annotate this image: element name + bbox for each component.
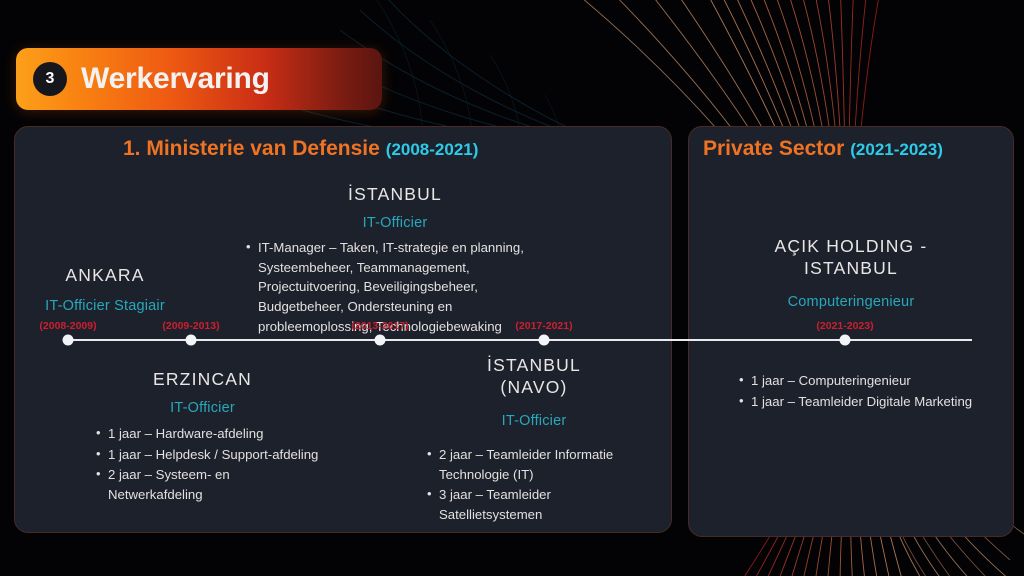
- timeline-dot[interactable]: [840, 335, 851, 346]
- timeline-label: (2008-2009): [39, 320, 96, 332]
- slide-root: 3 Werkervaring 1. Ministerie van Defensi…: [0, 0, 1024, 576]
- block-istanbul-navo: İSTANBUL (NAVO) IT-Officier 2 jaar – Tea…: [418, 355, 650, 526]
- block-ankara: ANKARA IT-Officier Stagiair: [10, 265, 200, 314]
- timeline-dot[interactable]: [539, 335, 550, 346]
- list-istanbul-navo: 2 jaar – Teamleider Informatie Technolog…: [426, 445, 650, 525]
- block-istanbul: İSTANBUL IT-Officier IT-Manager – Taken,…: [215, 184, 575, 337]
- panel-title-defensie: 1. Ministerie van Defensie(2008-2021): [123, 137, 478, 161]
- list-acik-holding: 1 jaar – Computeringenieur 1 jaar – Team…: [738, 371, 978, 412]
- list-erzincan: 1 jaar – Hardware-afdeling 1 jaar – Help…: [95, 424, 320, 505]
- panel-title-private-text: Private Sector: [703, 137, 844, 160]
- timeline-label: (2013-2017): [351, 320, 408, 332]
- block-acik-holding: AÇIK HOLDING - ISTANBUL Computeringenieu…: [710, 236, 992, 310]
- city-label-acik-holding: AÇIK HOLDING - ISTANBUL: [710, 236, 992, 280]
- role-label-acik-holding: Computeringenieur: [710, 294, 992, 310]
- city-label-erzincan: ERZINCAN: [85, 369, 320, 391]
- timeline-label: (2017-2021): [515, 320, 572, 332]
- panel-years-private: (2021-2023): [850, 140, 943, 159]
- role-label-erzincan: IT-Officier: [85, 400, 320, 416]
- page-title: Werkervaring: [81, 62, 270, 96]
- city-label-ankara: ANKARA: [10, 265, 200, 287]
- timeline-dot[interactable]: [63, 335, 74, 346]
- city-label-istanbul-navo: İSTANBUL (NAVO): [418, 355, 650, 399]
- city-label-istanbul: İSTANBUL: [215, 184, 575, 206]
- list-item: 2 jaar – Teamleider Informatie Technolog…: [426, 445, 650, 485]
- panel-title-defensie-text: 1. Ministerie van Defensie: [123, 137, 380, 160]
- list-item: 1 jaar – Teamleider Digitale Marketing: [738, 392, 978, 412]
- list-item: 1 jaar – Hardware-afdeling: [95, 424, 320, 444]
- list-item: 3 jaar – Teamleider Satellietsystemen: [426, 485, 650, 525]
- block-erzincan: ERZINCAN IT-Officier 1 jaar – Hardware-a…: [85, 369, 320, 506]
- list-item: 1 jaar – Computeringenieur: [738, 371, 978, 391]
- timeline-dot[interactable]: [186, 335, 197, 346]
- role-label-istanbul-navo: IT-Officier: [418, 413, 650, 429]
- timeline-label: (2009-2013): [162, 320, 219, 332]
- timeline-dot[interactable]: [375, 335, 386, 346]
- section-header-pill: 3 Werkervaring: [16, 48, 382, 110]
- timeline-label: (2021-2023): [816, 320, 873, 332]
- section-number-badge: 3: [33, 62, 67, 96]
- panel-title-private: Private Sector(2021-2023): [703, 137, 943, 161]
- timeline-track: [66, 339, 972, 341]
- role-label-ankara: IT-Officier Stagiair: [10, 298, 200, 314]
- list-item: 1 jaar – Helpdesk / Support-afdeling: [95, 445, 320, 465]
- list-item: 2 jaar – Systeem- en Netwerkafdeling: [95, 465, 320, 505]
- role-label-istanbul: IT-Officier: [215, 215, 575, 231]
- panel-years-defensie: (2008-2021): [386, 140, 479, 159]
- block-acik-holding-items: 1 jaar – Computeringenieur 1 jaar – Team…: [738, 371, 978, 413]
